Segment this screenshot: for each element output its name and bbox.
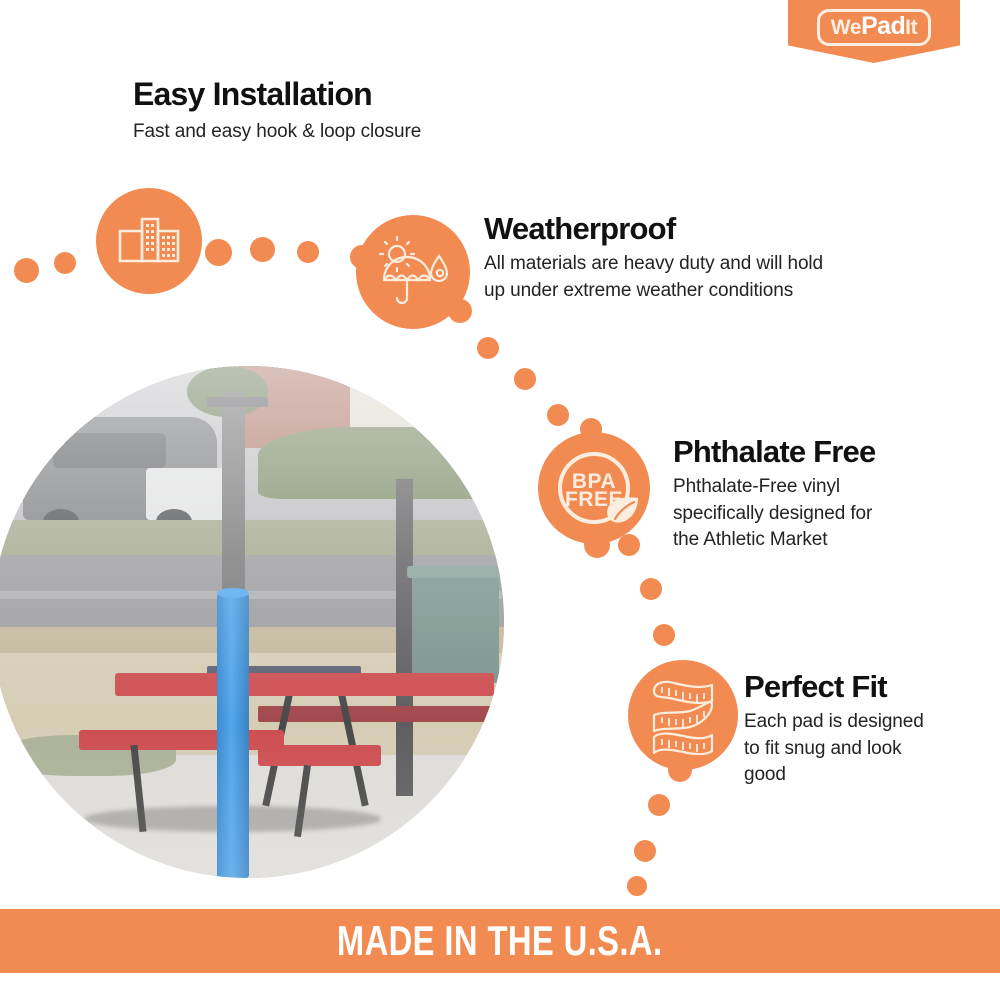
measuring-tape-icon-badge[interactable] [628, 660, 738, 770]
feature-description-line: the Athletic Market [673, 527, 973, 554]
badge-edge-bump [668, 758, 692, 782]
brand-logo-it: It [905, 17, 917, 38]
brand-logo-we: We [831, 17, 861, 38]
trail-dot [14, 258, 39, 283]
badge-edge-bump [580, 418, 602, 440]
feature-title-perfect-fit: Perfect Fit [744, 671, 984, 704]
trail-dot [54, 252, 76, 274]
made-in-usa-banner: MADE IN THE U.S.A. [0, 909, 1000, 973]
feature-description-line: to fit snug and look [744, 736, 984, 763]
feature-title-weatherproof: Weatherproof [484, 213, 914, 246]
feature-description-line: Each pad is designed [744, 709, 984, 736]
feature-description-easy-installation: Fast and easy hook & loop closure [133, 119, 421, 146]
trail-dot [618, 534, 640, 556]
feature-description-line: All materials are heavy duty and will ho… [484, 251, 914, 278]
trail-dot [653, 624, 675, 646]
trail-dot [648, 794, 670, 816]
feature-description-line: Phthalate-Free vinyl [673, 474, 973, 501]
marketing-infographic: We Pad It Easy Installation Fast and eas… [0, 0, 1000, 987]
brand-logo-pad: Pad [861, 14, 905, 39]
feature-block-weatherproof: Weatherproof All materials are heavy dut… [484, 213, 914, 304]
product-photo [0, 366, 504, 878]
trail-dot [634, 840, 656, 862]
trail-dot [297, 241, 319, 263]
trail-dot [627, 876, 647, 896]
feature-description-line: up under extreme weather conditions [484, 278, 914, 305]
made-in-usa-text: MADE IN THE U.S.A. [337, 917, 663, 965]
feature-description-phthalate-free: Phthalate-Free vinyl specifically design… [673, 474, 973, 555]
feature-description-weatherproof: All materials are heavy duty and will ho… [484, 251, 914, 305]
feature-block-easy-installation: Easy Installation Fast and easy hook & l… [133, 78, 421, 146]
building-installation-icon-badge[interactable] [96, 188, 202, 294]
photo-overlay-haze [0, 366, 504, 878]
brand-logo-banner[interactable]: We Pad It [788, 0, 960, 63]
bpa-free-leaf-icon: BPA FREE [546, 440, 642, 536]
sun-umbrella-raindrop-icon [376, 236, 450, 308]
feature-description-line: specifically designed for [673, 501, 973, 528]
badge-edge-bump [448, 299, 472, 323]
feature-title-easy-installation: Easy Installation [133, 78, 421, 112]
trail-dot [205, 239, 232, 266]
trail-dot [514, 368, 536, 390]
building-installation-icon [118, 215, 180, 267]
trail-dot [477, 337, 499, 359]
badge-edge-bump [350, 245, 374, 269]
sun-umbrella-raindrop-icon-badge[interactable] [356, 215, 470, 329]
feature-description-line: good [744, 762, 984, 789]
measuring-tape-icon [644, 675, 722, 755]
trail-dot [547, 404, 569, 426]
feature-block-perfect-fit: Perfect Fit Each pad is designed to fit … [744, 671, 984, 789]
trail-dot [640, 578, 662, 600]
trail-dot [250, 237, 275, 262]
brand-logo-frame: We Pad It [817, 9, 931, 46]
feature-title-phthalate-free: Phthalate Free [673, 436, 973, 469]
feature-block-phthalate-free: Phthalate Free Phthalate-Free vinyl spec… [673, 436, 973, 554]
bpa-free-leaf-icon-badge[interactable]: BPA FREE [538, 432, 650, 544]
feature-description-perfect-fit: Each pad is designed to fit snug and loo… [744, 709, 984, 790]
